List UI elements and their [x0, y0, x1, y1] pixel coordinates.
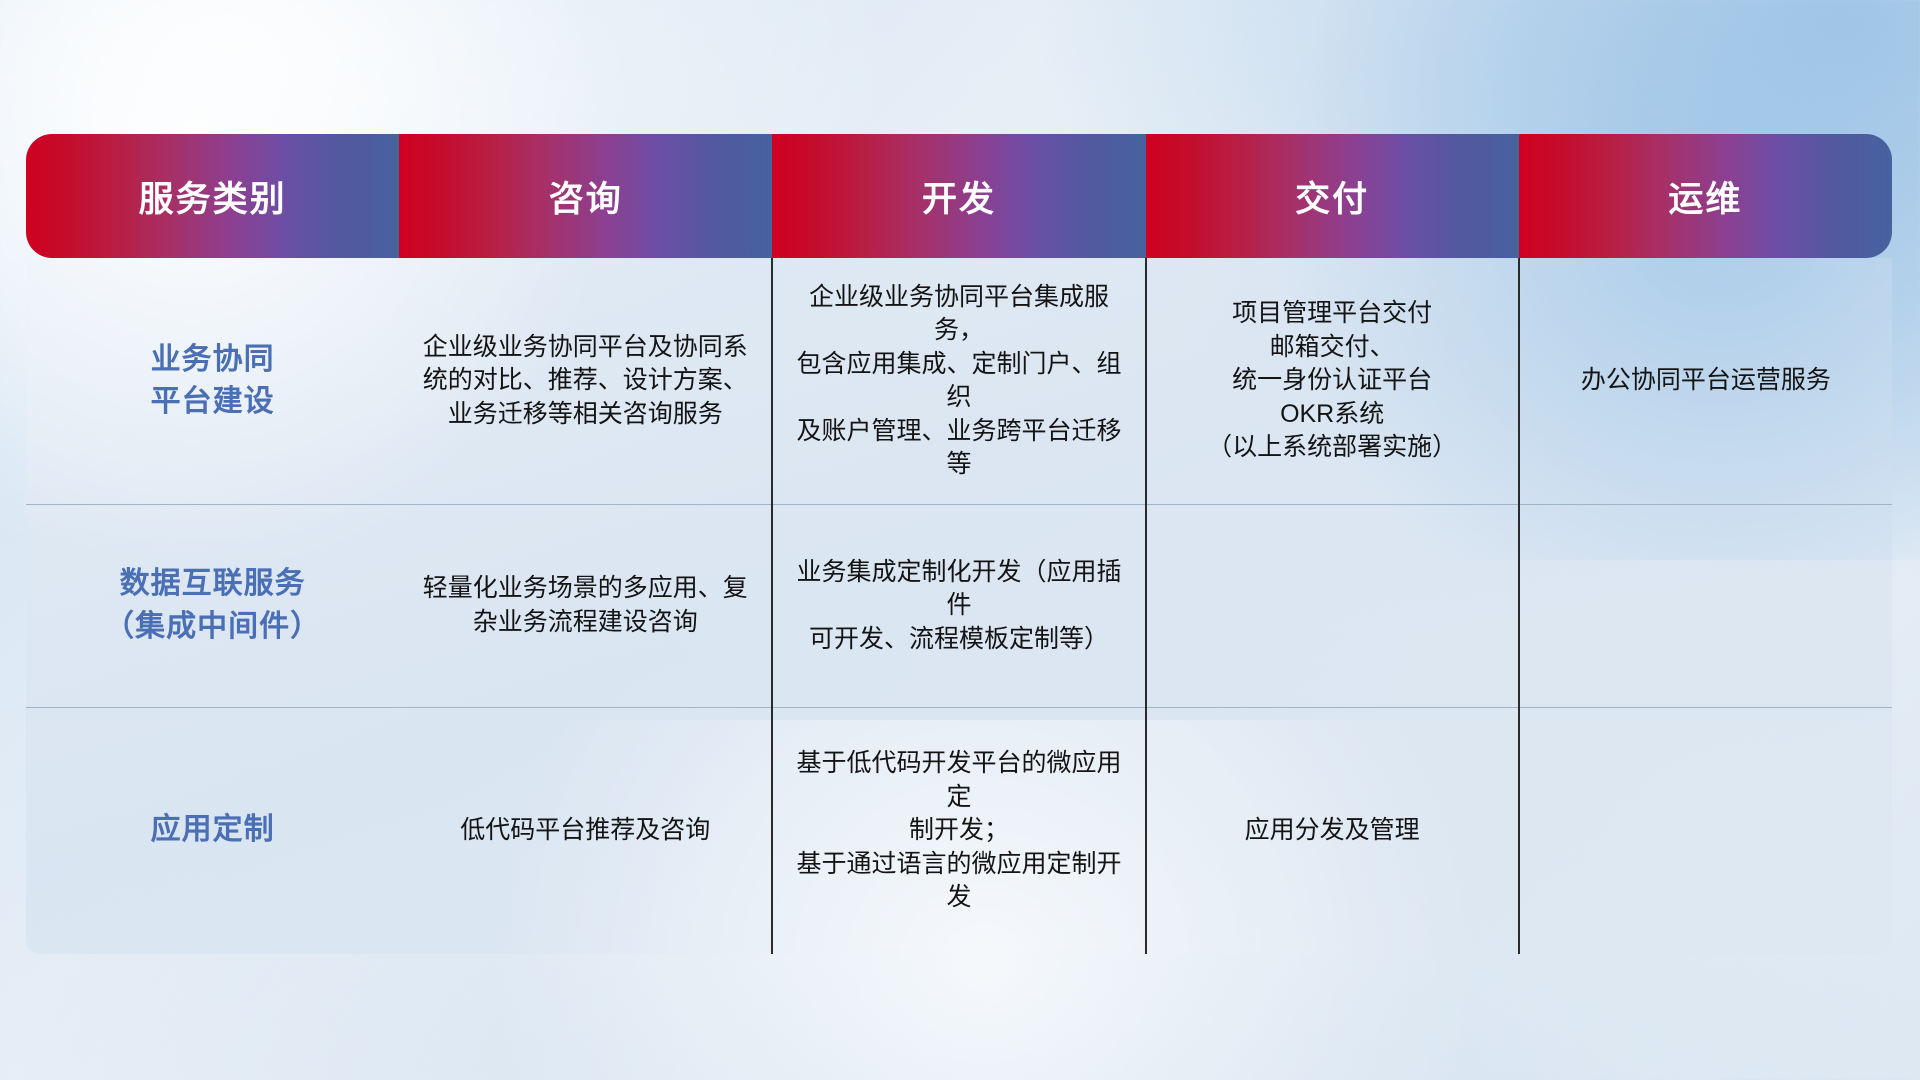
cell-text: 企业级业务协同平台集成服务， 包含应用集成、定制门户、组织 及账户管理、业务跨平…: [791, 281, 1126, 482]
cell-consulting: 企业级业务协同平台及协同系 统的对比、推荐、设计方案、 业务迁移等相关咨询服务: [399, 258, 772, 505]
table-row: 数据互联服务 （集成中间件） 轻量化业务场景的多应用、复 杂业务流程建设咨询 业…: [26, 505, 1892, 707]
service-matrix-table-container: 服务类别 咨询 开发 交付 运维: [26, 134, 1892, 954]
table-body: 业务协同 平台建设 企业级业务协同平台及协同系 统的对比、推荐、设计方案、 业务…: [26, 258, 1892, 954]
cell-text: 企业级业务协同平台及协同系 统的对比、推荐、设计方案、 业务迁移等相关咨询服务: [417, 331, 753, 432]
cell-delivery: 应用分发及管理: [1146, 707, 1519, 954]
column-header-development: 开发: [772, 134, 1145, 258]
column-header-operations: 运维: [1519, 134, 1892, 258]
cell-operations: [1519, 505, 1892, 707]
cell-text: 业务协同 平台建设: [44, 339, 381, 424]
cell-consulting: 低代码平台推荐及咨询: [399, 707, 772, 954]
table-row: 业务协同 平台建设 企业级业务协同平台及协同系 统的对比、推荐、设计方案、 业务…: [26, 258, 1892, 505]
cell-text: 应用定制: [44, 809, 381, 852]
cell-delivery: [1146, 505, 1519, 707]
cell-text: 应用分发及管理: [1165, 814, 1500, 848]
cell-text: 轻量化业务场景的多应用、复 杂业务流程建设咨询: [417, 572, 753, 639]
column-header-label: 运维: [1519, 171, 1892, 222]
table-row: 应用定制 低代码平台推荐及咨询 基于低代码开发平台的微应用定 制开发； 基于通过…: [26, 707, 1892, 954]
column-header-label: 交付: [1146, 171, 1519, 222]
cell-delivery: 项目管理平台交付 邮箱交付、 统一身份认证平台 OKR系统 （以上系统部署实施）: [1146, 258, 1519, 505]
column-header-label: 咨询: [399, 171, 772, 222]
cell-text: 数据互联服务 （集成中间件）: [44, 563, 381, 648]
table-header-row: 服务类别 咨询 开发 交付 运维: [26, 134, 1892, 258]
cell-text: 基于低代码开发平台的微应用定 制开发； 基于通过语言的微应用定制开发: [791, 747, 1126, 915]
cell-consulting: 轻量化业务场景的多应用、复 杂业务流程建设咨询: [399, 505, 772, 707]
cell-text: 项目管理平台交付 邮箱交付、 统一身份认证平台 OKR系统 （以上系统部署实施）: [1165, 297, 1500, 465]
cell-development: 业务集成定制化开发（应用插件 可开发、流程模板定制等）: [772, 505, 1145, 707]
service-matrix-table: 服务类别 咨询 开发 交付 运维: [26, 134, 1892, 954]
column-header-consulting: 咨询: [399, 134, 772, 258]
cell-development: 企业级业务协同平台集成服务， 包含应用集成、定制门户、组织 及账户管理、业务跨平…: [772, 258, 1145, 505]
row-category-label: 应用定制: [26, 707, 399, 954]
cell-operations: [1519, 707, 1892, 954]
cell-text: 业务集成定制化开发（应用插件 可开发、流程模板定制等）: [791, 556, 1126, 657]
row-category-label: 业务协同 平台建设: [26, 258, 399, 505]
row-category-label: 数据互联服务 （集成中间件）: [26, 505, 399, 707]
cell-development: 基于低代码开发平台的微应用定 制开发； 基于通过语言的微应用定制开发: [772, 707, 1145, 954]
column-header-delivery: 交付: [1146, 134, 1519, 258]
cell-text: 低代码平台推荐及咨询: [417, 814, 753, 848]
column-header-label: 开发: [772, 171, 1145, 222]
cell-text: 办公协同平台运营服务: [1538, 364, 1874, 398]
cell-operations: 办公协同平台运营服务: [1519, 258, 1892, 505]
table-header: 服务类别 咨询 开发 交付 运维: [26, 134, 1892, 258]
column-header-label: 服务类别: [26, 171, 399, 222]
column-header-service-category: 服务类别: [26, 134, 399, 258]
